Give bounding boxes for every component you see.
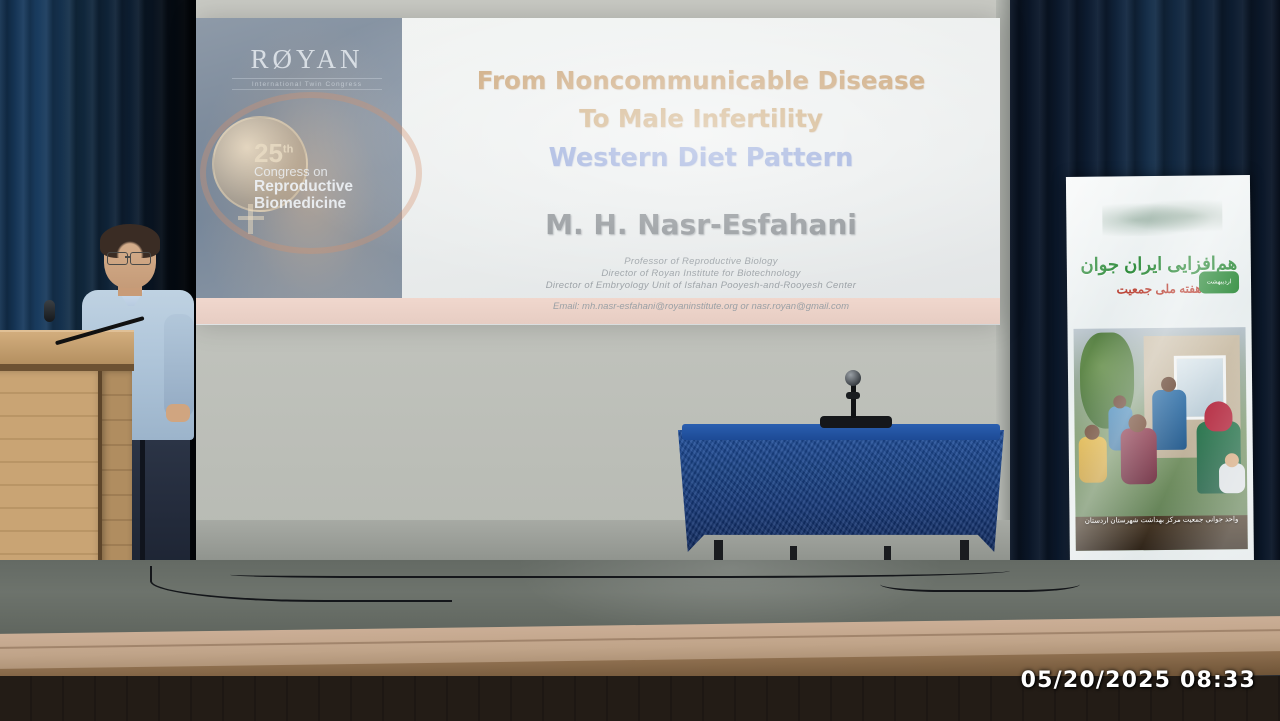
table-cloth bbox=[678, 430, 1004, 552]
royan-logo: RØYAN International Twin Congress bbox=[232, 44, 382, 90]
speaker-hand bbox=[166, 404, 190, 422]
royan-logo-subtitle: International Twin Congress bbox=[232, 78, 382, 90]
slide-affiliation-3: Director of Embryology Unit of Isfahan P… bbox=[402, 280, 1000, 291]
slide-affiliation-2: Director of Royan Institute for Biotechn… bbox=[402, 268, 1000, 279]
conference-photo: RØYAN International Twin Congress 25th C… bbox=[0, 0, 1280, 721]
microphone-icon bbox=[845, 370, 861, 386]
royan-wordmark: RØYAN bbox=[232, 44, 382, 75]
table-mic-joint bbox=[846, 392, 860, 399]
podium-top bbox=[0, 330, 134, 368]
podium bbox=[0, 330, 134, 592]
slide-presenter-name: M. H. Nasr-Esfahani bbox=[402, 208, 1000, 241]
podium-microphone-icon bbox=[44, 300, 55, 322]
camera-timestamp: 05/20/2025 08:33 bbox=[1021, 668, 1256, 693]
slide-affiliation-1: Professor of Reproductive Biology bbox=[402, 256, 1000, 267]
speaker-leg-split bbox=[140, 438, 145, 570]
slide-title-line2: To Male Infertility bbox=[402, 104, 1000, 133]
podium-front-panel bbox=[0, 371, 102, 581]
eyeglasses-icon bbox=[107, 252, 128, 265]
podium-side-panel bbox=[102, 371, 132, 577]
floor-cable-right bbox=[880, 566, 1080, 592]
banner-sheen bbox=[1066, 175, 1254, 577]
slide-title-line1: From Noncommunicable Disease bbox=[402, 66, 1000, 95]
congress-number: 25th bbox=[254, 140, 404, 166]
projection-screen: RØYAN International Twin Congress 25th C… bbox=[196, 18, 1000, 325]
table-mic-stem bbox=[851, 382, 856, 418]
congress-line3: Biomedicine bbox=[254, 196, 404, 213]
congress-line1: Congress on bbox=[254, 164, 404, 179]
congress-line2: Reproductive bbox=[254, 179, 404, 196]
slide-title-line3: Western Diet Pattern bbox=[402, 143, 1000, 173]
podium-top-edge bbox=[0, 364, 134, 371]
globe-cross-icon bbox=[238, 216, 264, 220]
speaker-arm bbox=[164, 314, 194, 418]
table-mic-base bbox=[820, 416, 892, 428]
eyeglasses-bridge-icon bbox=[125, 256, 131, 258]
congress-block: 25th Congress on Reproductive Biomedicin… bbox=[254, 140, 404, 212]
standing-banner: هم‌افزایی ایران جوان هفته ملی جمعیت اردی… bbox=[1066, 175, 1254, 577]
slide-email-line: Email: mh.nasr-esfahani@royaninstitute.o… bbox=[402, 301, 1000, 312]
eyeglasses-right-lens-icon bbox=[130, 252, 151, 265]
